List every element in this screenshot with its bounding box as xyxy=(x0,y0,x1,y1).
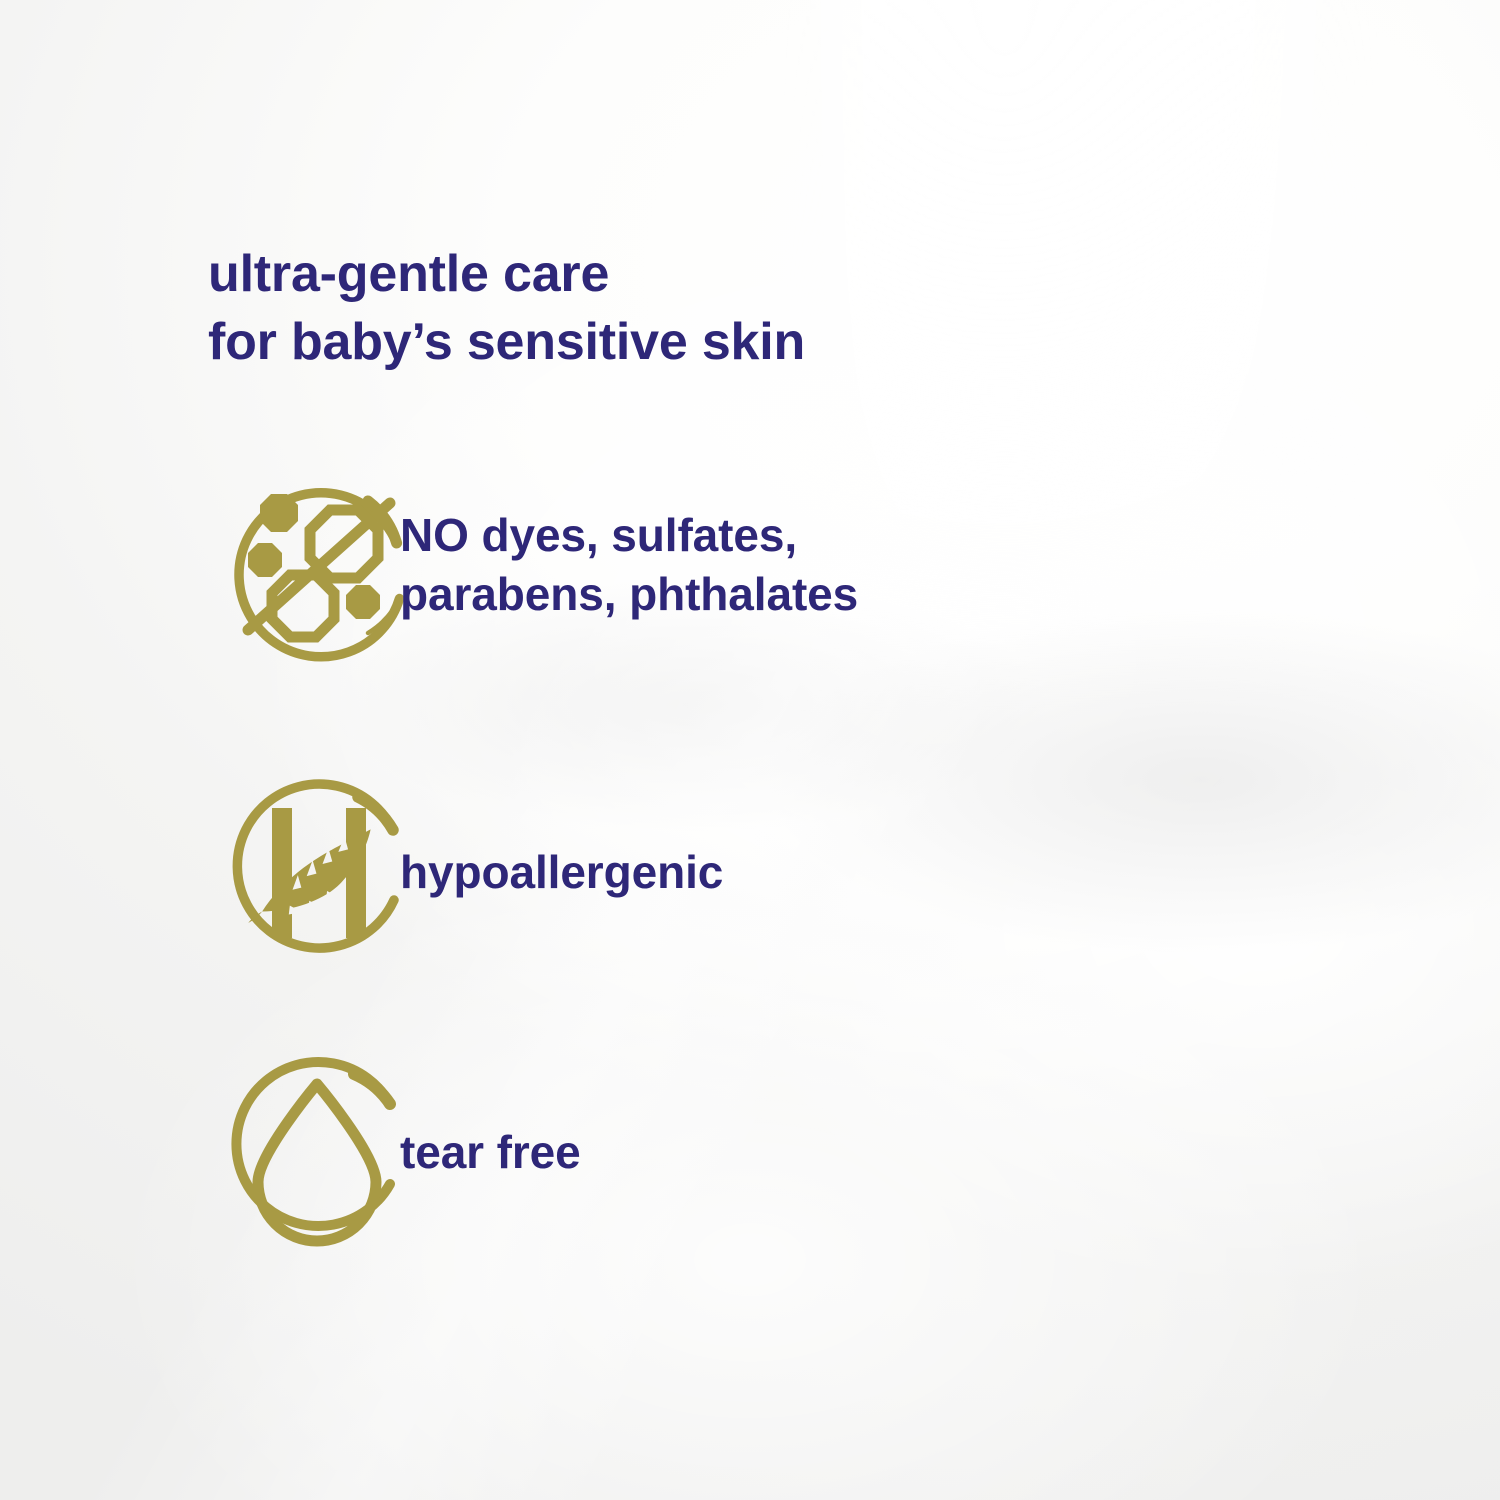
product-claims-graphic: ultra-gentle care for baby’s sensitive s… xyxy=(0,0,1500,1500)
feature-item-hypoallergenic: hypoallergenic xyxy=(218,772,723,972)
page-title: ultra-gentle care for baby’s sensitive s… xyxy=(208,241,805,376)
no-chemicals-icon xyxy=(218,465,418,665)
feature-label: hypoallergenic xyxy=(400,843,723,902)
feature-item-tear-free: tear free xyxy=(218,1052,581,1252)
tear-free-droplet-icon xyxy=(218,1052,418,1252)
content-layer: ultra-gentle care for baby’s sensitive s… xyxy=(0,0,1500,1500)
hypoallergenic-feather-h-icon xyxy=(218,772,418,972)
feature-label: NO dyes, sulfates, parabens, phthalates xyxy=(400,506,858,624)
feature-label: tear free xyxy=(400,1123,581,1182)
feature-item-no-dyes: NO dyes, sulfates, parabens, phthalates xyxy=(218,465,858,665)
